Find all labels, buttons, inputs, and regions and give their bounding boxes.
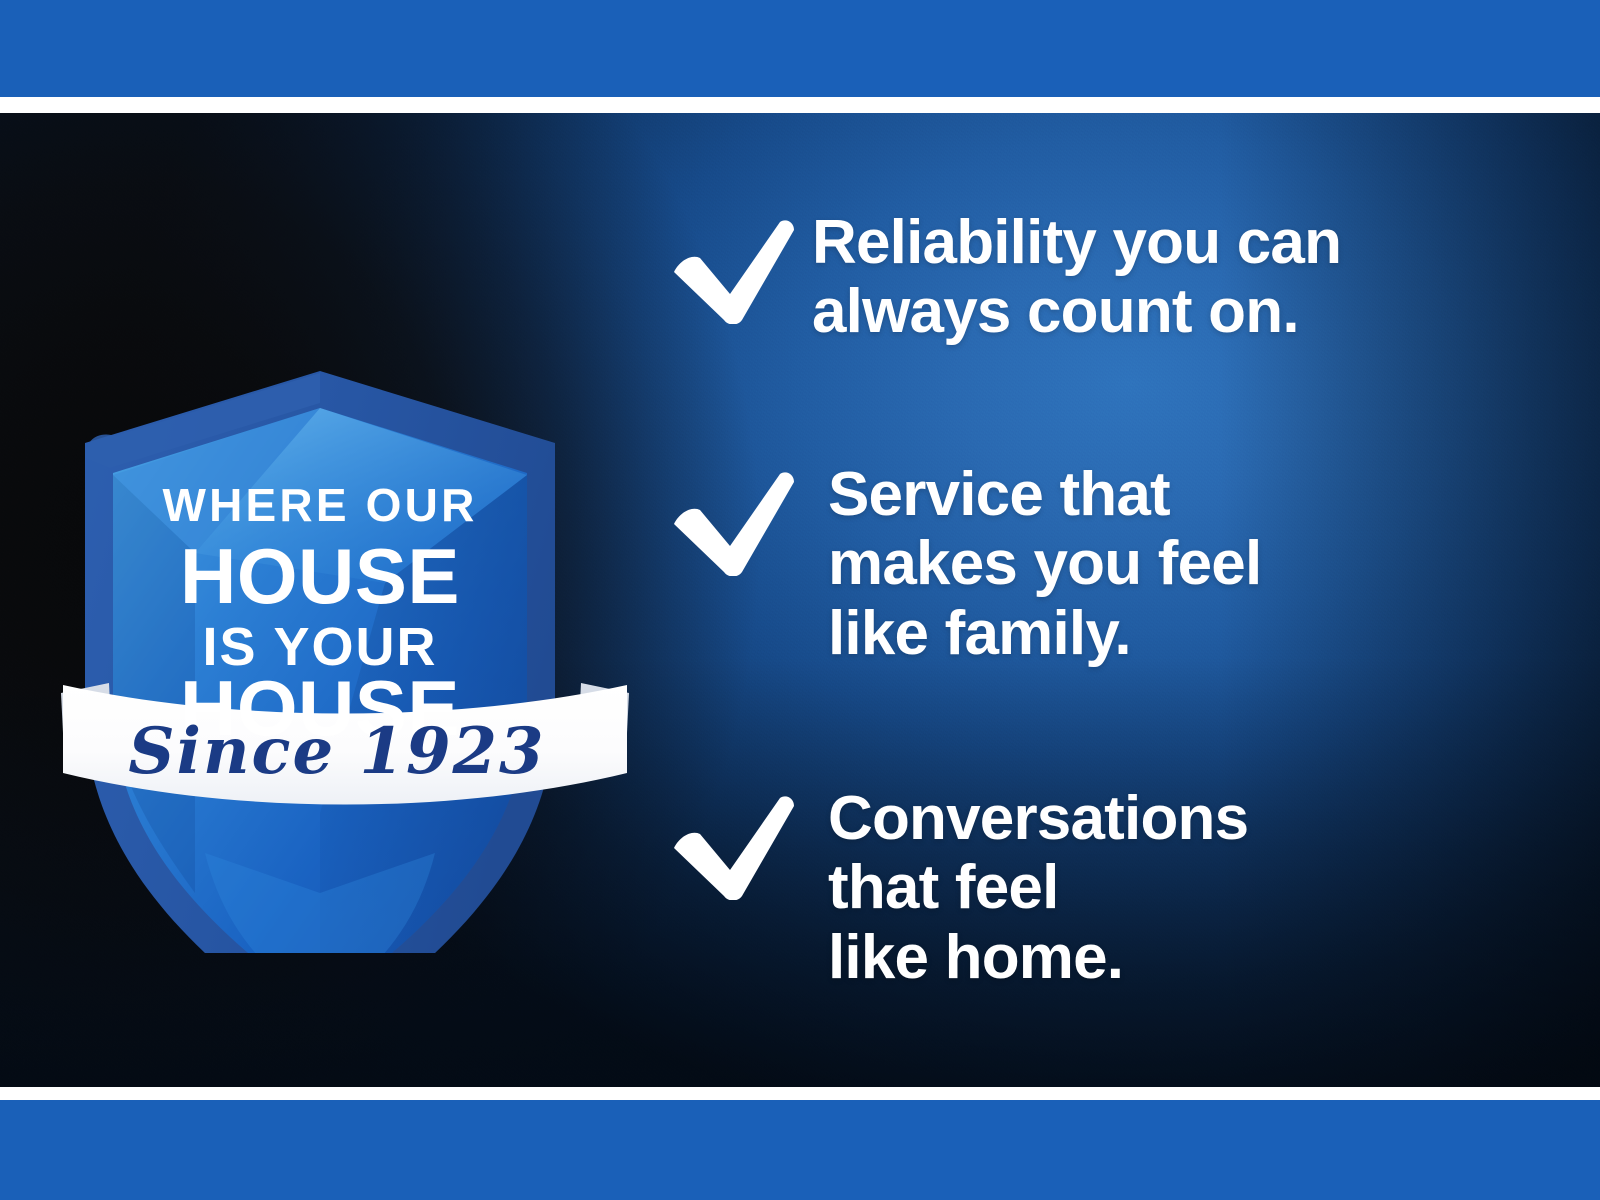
ribbon-since-text: Since 1923: [128, 714, 545, 789]
bottom-brand-band: [0, 1100, 1600, 1200]
shield-line-1: WHERE OUR: [162, 479, 477, 531]
benefit-text: Service that makes you feel like family.: [812, 460, 1261, 668]
top-brand-band: [0, 0, 1600, 97]
benefit-text: Conversations that feel like home.: [812, 784, 1248, 992]
benefit-text: Reliability you can always count on.: [812, 208, 1341, 347]
benefit-item-service: Service that makes you feel like family.: [672, 460, 1261, 668]
benefit-item-conversations: Conversations that feel like home.: [672, 784, 1248, 992]
checkmark-icon: [672, 784, 812, 900]
artwork-canvas: WHERE OUR HOUSE IS YOUR HOUSE Since 1923…: [0, 113, 1600, 1087]
badge-emblem: WHERE OUR HOUSE IS YOUR HOUSE Since 1923: [55, 253, 635, 953]
promo-graphic: WHERE OUR HOUSE IS YOUR HOUSE Since 1923…: [0, 0, 1600, 1200]
shield-line-2: HOUSE: [180, 532, 460, 620]
checkmark-icon: [672, 208, 812, 324]
checkmark-icon: [672, 460, 812, 576]
benefit-item-reliability: Reliability you can always count on.: [672, 208, 1341, 347]
